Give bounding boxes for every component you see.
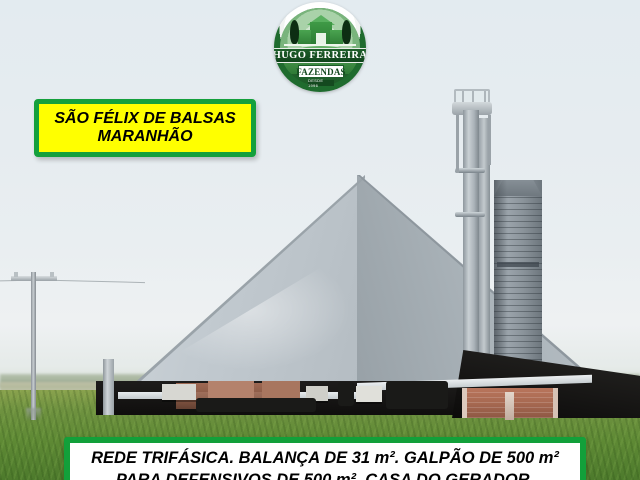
equipment-silhouette bbox=[338, 382, 354, 406]
logo-subtitle-text: FAZENDAS bbox=[296, 67, 345, 77]
logo-fence-rail-top bbox=[284, 44, 356, 46]
parked-truck-1 bbox=[162, 384, 196, 400]
logo-subtitle-box: FAZENDAS bbox=[298, 65, 344, 78]
silo-tower bbox=[463, 110, 479, 375]
logo-brand-name: HUGO FERREIRA bbox=[274, 50, 366, 61]
tree-icon-left bbox=[290, 20, 299, 44]
silo-leg-right bbox=[488, 115, 491, 165]
property-features-caption: REDE TRIFÁSICA. BALANÇA DE 31 m². GALPÃO… bbox=[64, 437, 586, 480]
concrete-post bbox=[103, 359, 114, 415]
brick-column-center bbox=[505, 392, 514, 420]
vehicle-shadow bbox=[196, 398, 316, 412]
logo-established-text: DESDE 1996 bbox=[308, 78, 334, 88]
location-city: SÃO FÉLIX DE BALSAS bbox=[54, 110, 235, 128]
utility-pole bbox=[31, 272, 36, 420]
silo-leg-left bbox=[456, 115, 459, 173]
parked-truck-5 bbox=[356, 386, 382, 402]
silo-ring-upper bbox=[455, 168, 485, 173]
screenshot-canvas: HUGO FERREIRA FAZENDAS DESDE 1996 SÃO FÉ… bbox=[0, 0, 640, 480]
silo-platform-railing bbox=[454, 89, 490, 103]
brand-logo[interactable]: HUGO FERREIRA FAZENDAS DESDE 1996 bbox=[274, 2, 366, 92]
pole-insulator-left bbox=[14, 272, 18, 277]
tree-icon-right bbox=[342, 20, 351, 44]
silo-ring-middle bbox=[455, 212, 485, 217]
grain-elevator-band bbox=[497, 262, 539, 267]
caption-line-2: PARA DEFENSIVOS DE 500 m². CASA DO GERAD… bbox=[76, 470, 574, 480]
logo-ribbon: HUGO FERREIRA bbox=[274, 48, 366, 63]
logo-established-box: DESDE 1996 bbox=[308, 80, 334, 86]
utility-pole-base bbox=[26, 408, 41, 420]
roof-highlight bbox=[150, 250, 350, 370]
caption-line-1: REDE TRIFÁSICA. BALANÇA DE 31 m². GALPÃO… bbox=[76, 448, 574, 470]
location-state: MARANHÃO bbox=[97, 128, 192, 146]
location-banner: SÃO FÉLIX DE BALSAS MARANHÃO bbox=[34, 99, 256, 157]
grain-elevator-shadow bbox=[494, 180, 507, 378]
dark-bay-opening bbox=[386, 381, 448, 409]
pole-insulator-right bbox=[50, 272, 54, 277]
